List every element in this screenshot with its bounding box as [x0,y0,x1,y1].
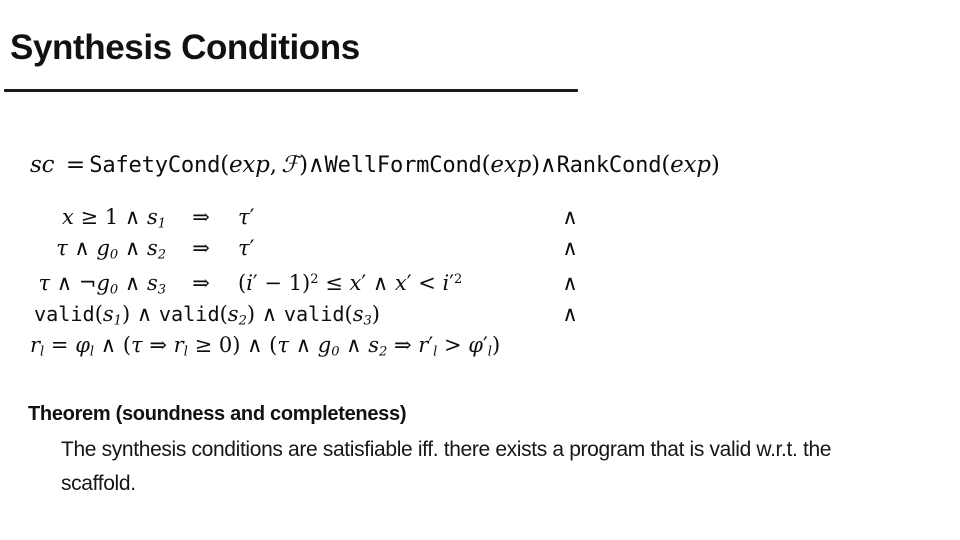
implication-row-2-rhs: τ′ [230,233,550,264]
implication-row-2-lhs: τ ∧ g0 ∧ s2 [0,233,172,264]
implication-row-3-lhs: τ ∧ ¬g0 ∧ s3 [0,268,172,299]
conjunct-2: ∧ [540,152,557,178]
safetycond-term: SafetyCond [89,153,220,178]
theorem-block: Theorem (soundness and completeness) The… [28,403,928,501]
safetycond-close-paren: ) [299,152,308,178]
formula-lhs-sc: sc [30,152,54,178]
implication-row-3-rhs: (i′ − 1)2 ≤ x′ ∧ x′ < i′2 [230,264,550,295]
validity-row: valid(s1) ∧ valid(s2) ∧ valid(s3) [0,299,550,330]
title-divider [4,89,578,92]
implication-row-2-conjunct: ∧ [550,233,590,264]
wellformcond-term: WellFormCond [325,153,482,178]
implication-row-3-conjunct: ∧ [550,268,590,299]
implication-row-1-conjunct: ∧ [550,202,590,233]
arg-separator: , [270,152,282,178]
exp-arg-3: exp [670,152,711,178]
conjunct-1: ∧ [308,152,325,178]
exp-arg-1: exp [229,152,270,178]
ranking-row: rl = φl ∧ (τ ⇒ rl ≥ 0) ∧ (τ ∧ g0 ∧ s2 ⇒ … [0,330,590,361]
scaffold-symbol: ℱ [281,152,299,178]
formula-definition-line: sc = SafetyCond(exp, ℱ)∧WellFormCond(exp… [30,152,720,178]
theorem-heading: Theorem (soundness and completeness) [28,403,928,426]
wellformcond-close-paren: ) [531,152,540,178]
validity-row-conjunct: ∧ [550,299,590,330]
page-title: Synthesis Conditions [10,28,360,68]
rankcond-open-paren: ( [661,152,670,178]
implication-row-3-arrow: ⇒ [172,268,230,299]
implication-row-1-lhs: x ≥ 1 ∧ s1 [0,202,172,233]
implication-rows: x ≥ 1 ∧ s1 ⇒ τ′ ∧ τ ∧ g0 ∧ s2 ⇒ τ′ ∧ τ ∧… [0,202,700,361]
exp-arg-2: exp [490,152,531,178]
rankcond-term: RankCond [557,153,662,178]
equals-sign: = [61,152,89,178]
theorem-body: The synthesis conditions are satisfiable… [61,433,841,501]
implication-row-1-rhs: τ′ [230,202,550,233]
safetycond-open-paren: ( [220,152,229,178]
implication-row-2-arrow: ⇒ [172,233,230,264]
implication-row-1-arrow: ⇒ [172,202,230,233]
rankcond-close-paren: ) [711,152,720,178]
